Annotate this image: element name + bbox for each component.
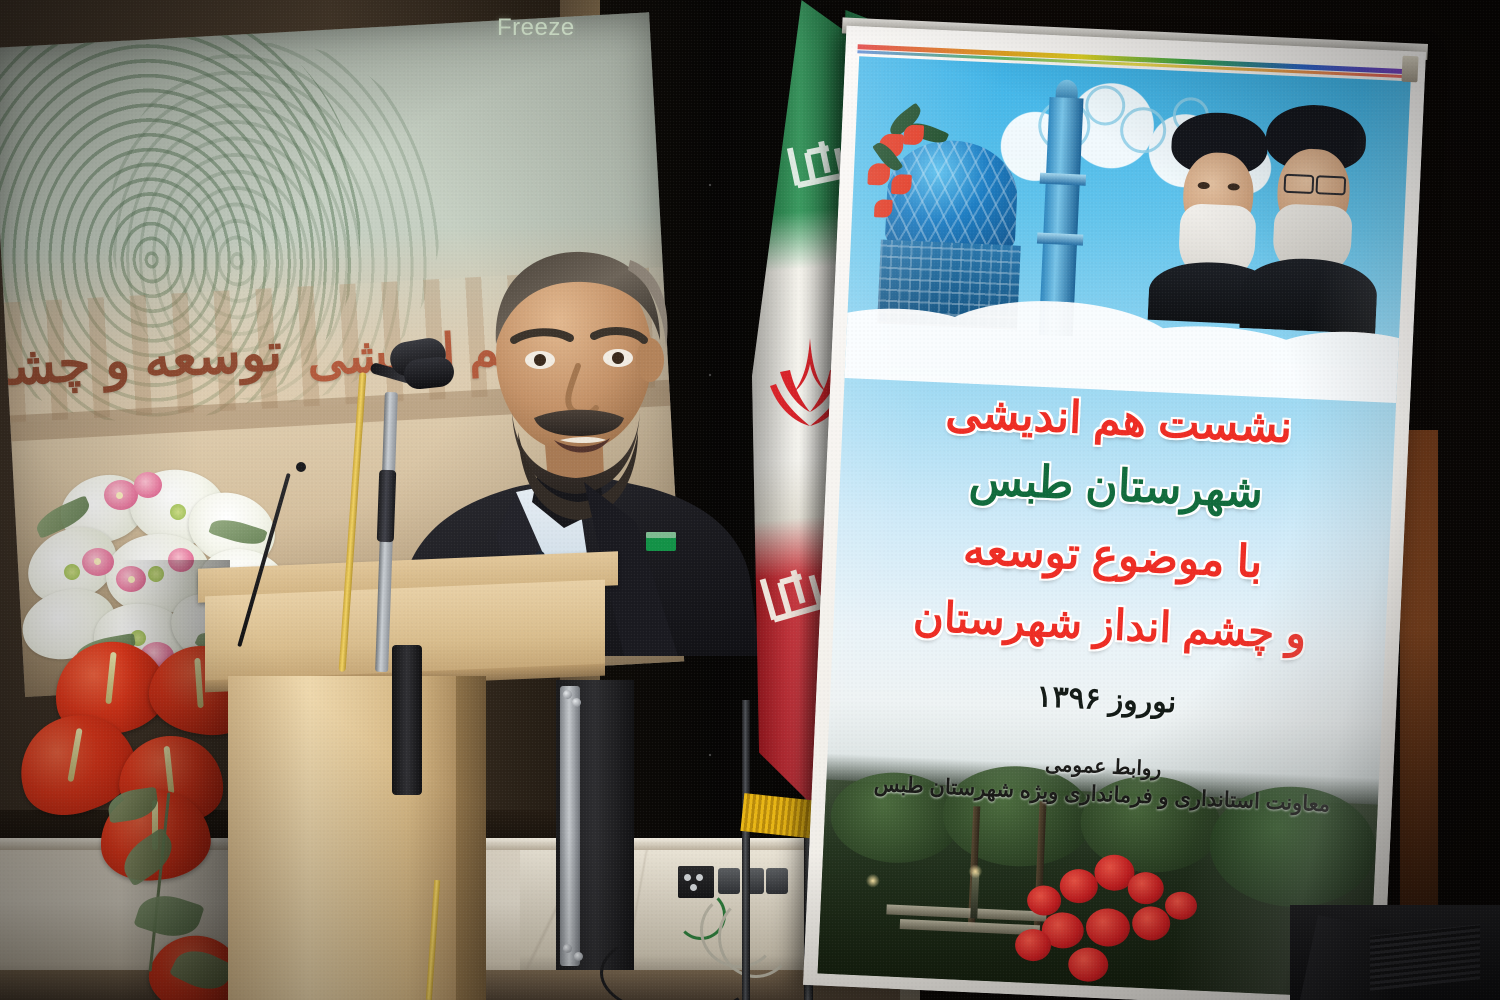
- ear: [636, 338, 664, 382]
- microphone-grip: [377, 470, 397, 543]
- banner-flower-cluster: [859, 105, 955, 239]
- banner-clip: [1401, 56, 1418, 83]
- case-bolt: [563, 690, 572, 699]
- banner-flower: [874, 199, 893, 218]
- red-rose: [1059, 868, 1099, 904]
- red-rose: [1014, 928, 1051, 962]
- case-bolt: [563, 944, 572, 953]
- wall-right-wood-strip: [1400, 430, 1438, 930]
- power-plug: [766, 868, 788, 894]
- minaret-balcony: [1037, 233, 1083, 246]
- red-rose: [1026, 885, 1061, 917]
- banner-headline-3: با موضوع توسعه: [836, 518, 1390, 594]
- red-rose: [1068, 947, 1110, 983]
- event-banner: نشست هم اندیشی شهرستان طبس با موضوع توسع…: [803, 26, 1426, 1000]
- flight-case-rail: [560, 686, 580, 966]
- power-plug: [718, 868, 740, 894]
- banner-headline-4: و چشم انداز شهرستان: [833, 588, 1387, 662]
- podium-body-side: [456, 676, 486, 1000]
- microphone-base-column: [392, 645, 422, 795]
- outlet-hole: [696, 874, 703, 881]
- blossom-core: [94, 558, 101, 565]
- red-rose: [1127, 871, 1164, 905]
- pink-blossom: [134, 472, 162, 498]
- cleric-portrait-right: [1239, 102, 1385, 334]
- lamp-glow: [866, 873, 881, 888]
- lapel-pin-stripe: [646, 532, 676, 538]
- pupil: [612, 352, 624, 364]
- banner-headline-2: شهرستان طبس: [839, 448, 1393, 524]
- portrait-eye: [1198, 182, 1210, 190]
- blossom-core: [116, 492, 123, 499]
- minaret-balcony: [1040, 173, 1086, 186]
- photo-scene: هم اندیشی توسعه و چشم Freeze: [0, 0, 1500, 1000]
- portrait-eye: [1228, 183, 1240, 191]
- red-rose: [1131, 906, 1171, 942]
- lily-core: [170, 504, 186, 520]
- red-rose: [1085, 907, 1131, 947]
- lily-core: [64, 564, 80, 580]
- outlet-hole: [684, 874, 691, 881]
- banner-flower: [903, 124, 924, 145]
- freeze-overlay-label: Freeze: [497, 14, 575, 42]
- case-bolt: [574, 952, 583, 961]
- banner-flower: [891, 174, 912, 195]
- eyeglasses-icon: [1315, 175, 1346, 195]
- banner-date: نوروز ۱۳۹۶: [830, 670, 1383, 730]
- antenna-tip: [296, 462, 306, 472]
- lamp-glow: [968, 864, 983, 879]
- garden-bench: [900, 919, 1040, 935]
- flag-pole-secondary: [742, 700, 750, 1000]
- case-bolt: [572, 698, 581, 707]
- eyeglasses-icon: [1283, 174, 1314, 194]
- pupil: [534, 354, 546, 366]
- speaker-grille: [1370, 924, 1480, 991]
- red-rose: [1164, 891, 1197, 920]
- banner-artwork-area: نشست هم اندیشی شهرستان طبس با موضوع توسع…: [818, 56, 1411, 998]
- podium-body: [228, 676, 458, 1000]
